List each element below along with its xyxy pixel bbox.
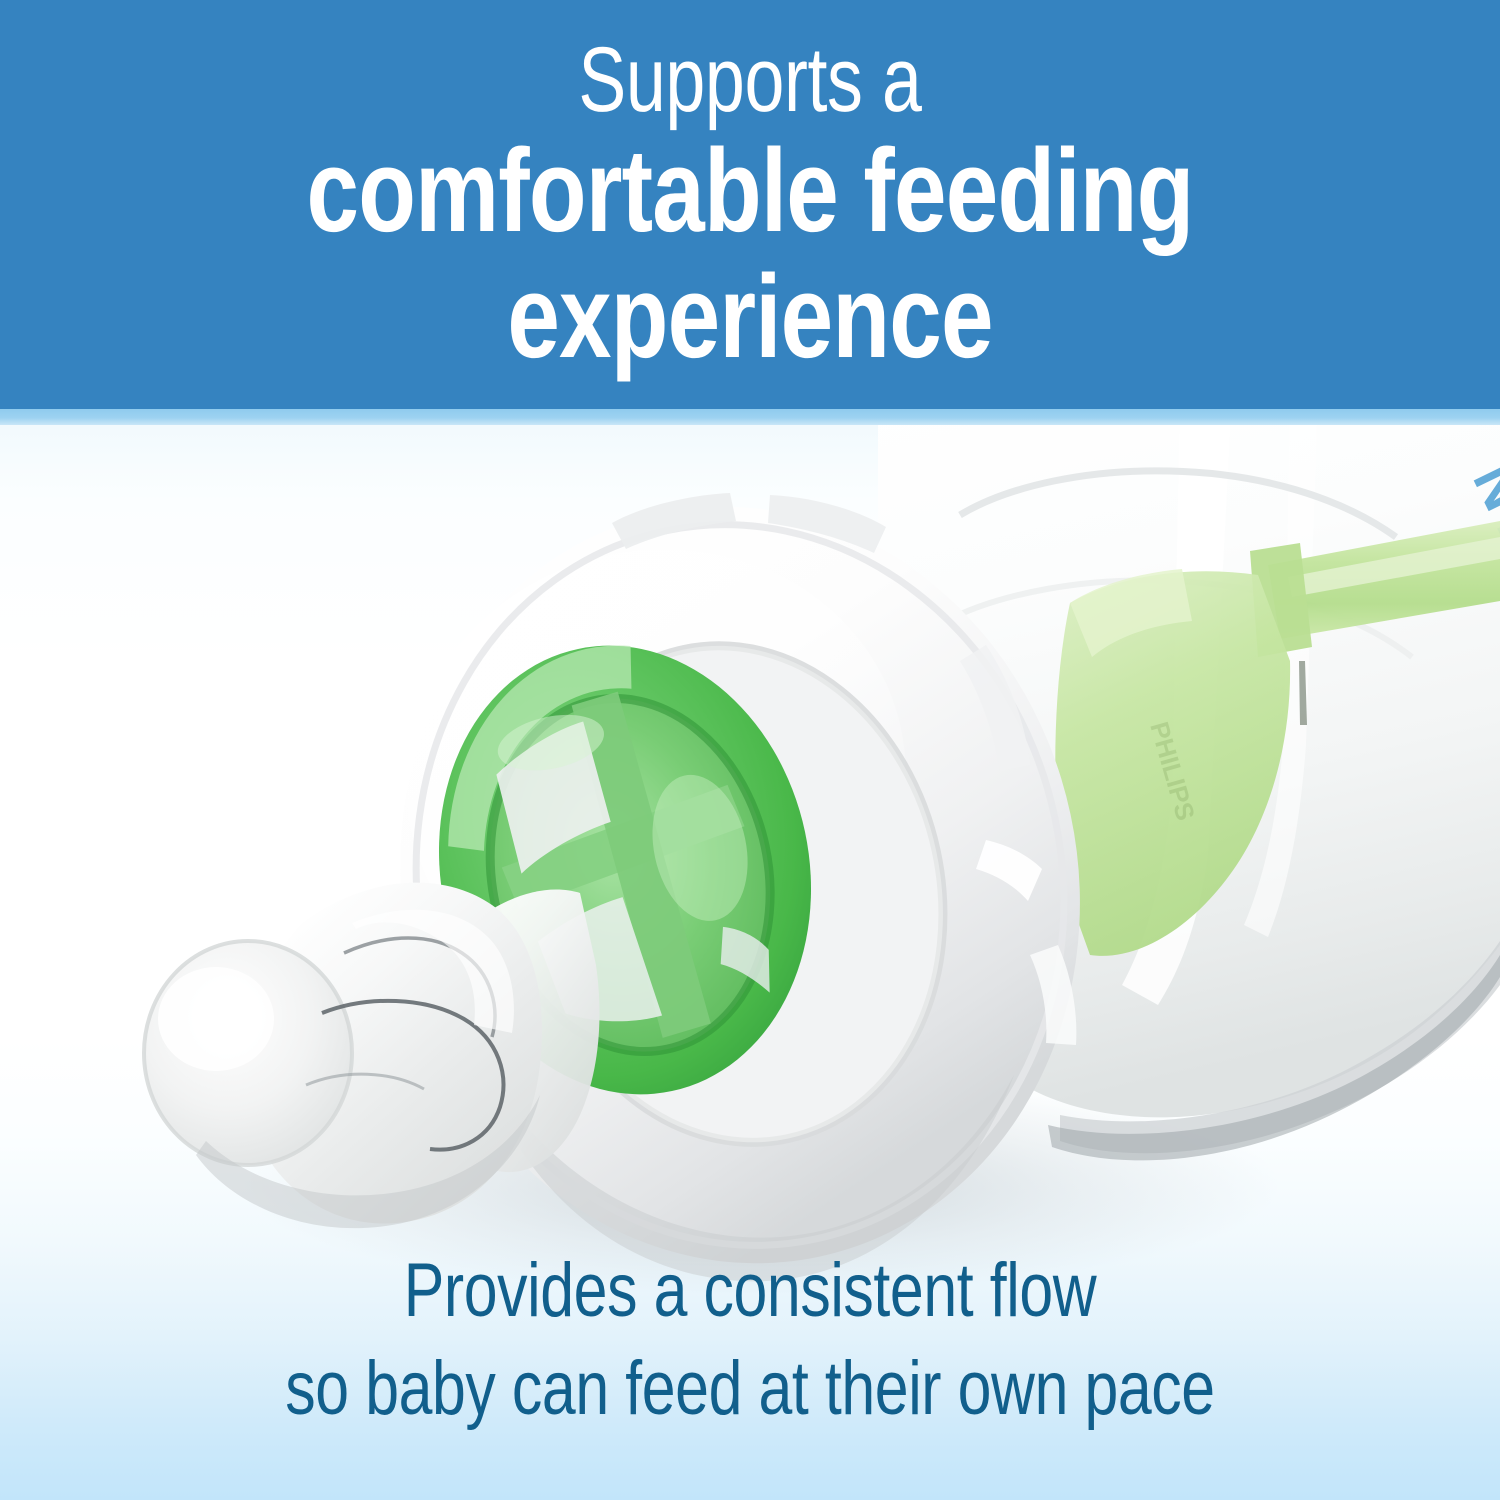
header-line-2: comfortable feeding <box>150 132 1350 250</box>
header-line-1: Supports a <box>165 34 1335 126</box>
product-feature-image: Supports a comfortable feeding experienc… <box>0 0 1500 1500</box>
header-text-block: Supports a comfortable feeding experienc… <box>0 34 1500 376</box>
header-banner: Supports a comfortable feeding experienc… <box>0 0 1500 409</box>
bottle-illustration: NTI-COL PHILIPS <box>0 425 1500 1500</box>
header-divider-strip <box>0 409 1500 425</box>
header-line-3: experience <box>150 258 1350 376</box>
product-image-area: NTI-COL PHILIPS <box>0 425 1500 1500</box>
nipple-tip-gloss <box>158 967 274 1071</box>
